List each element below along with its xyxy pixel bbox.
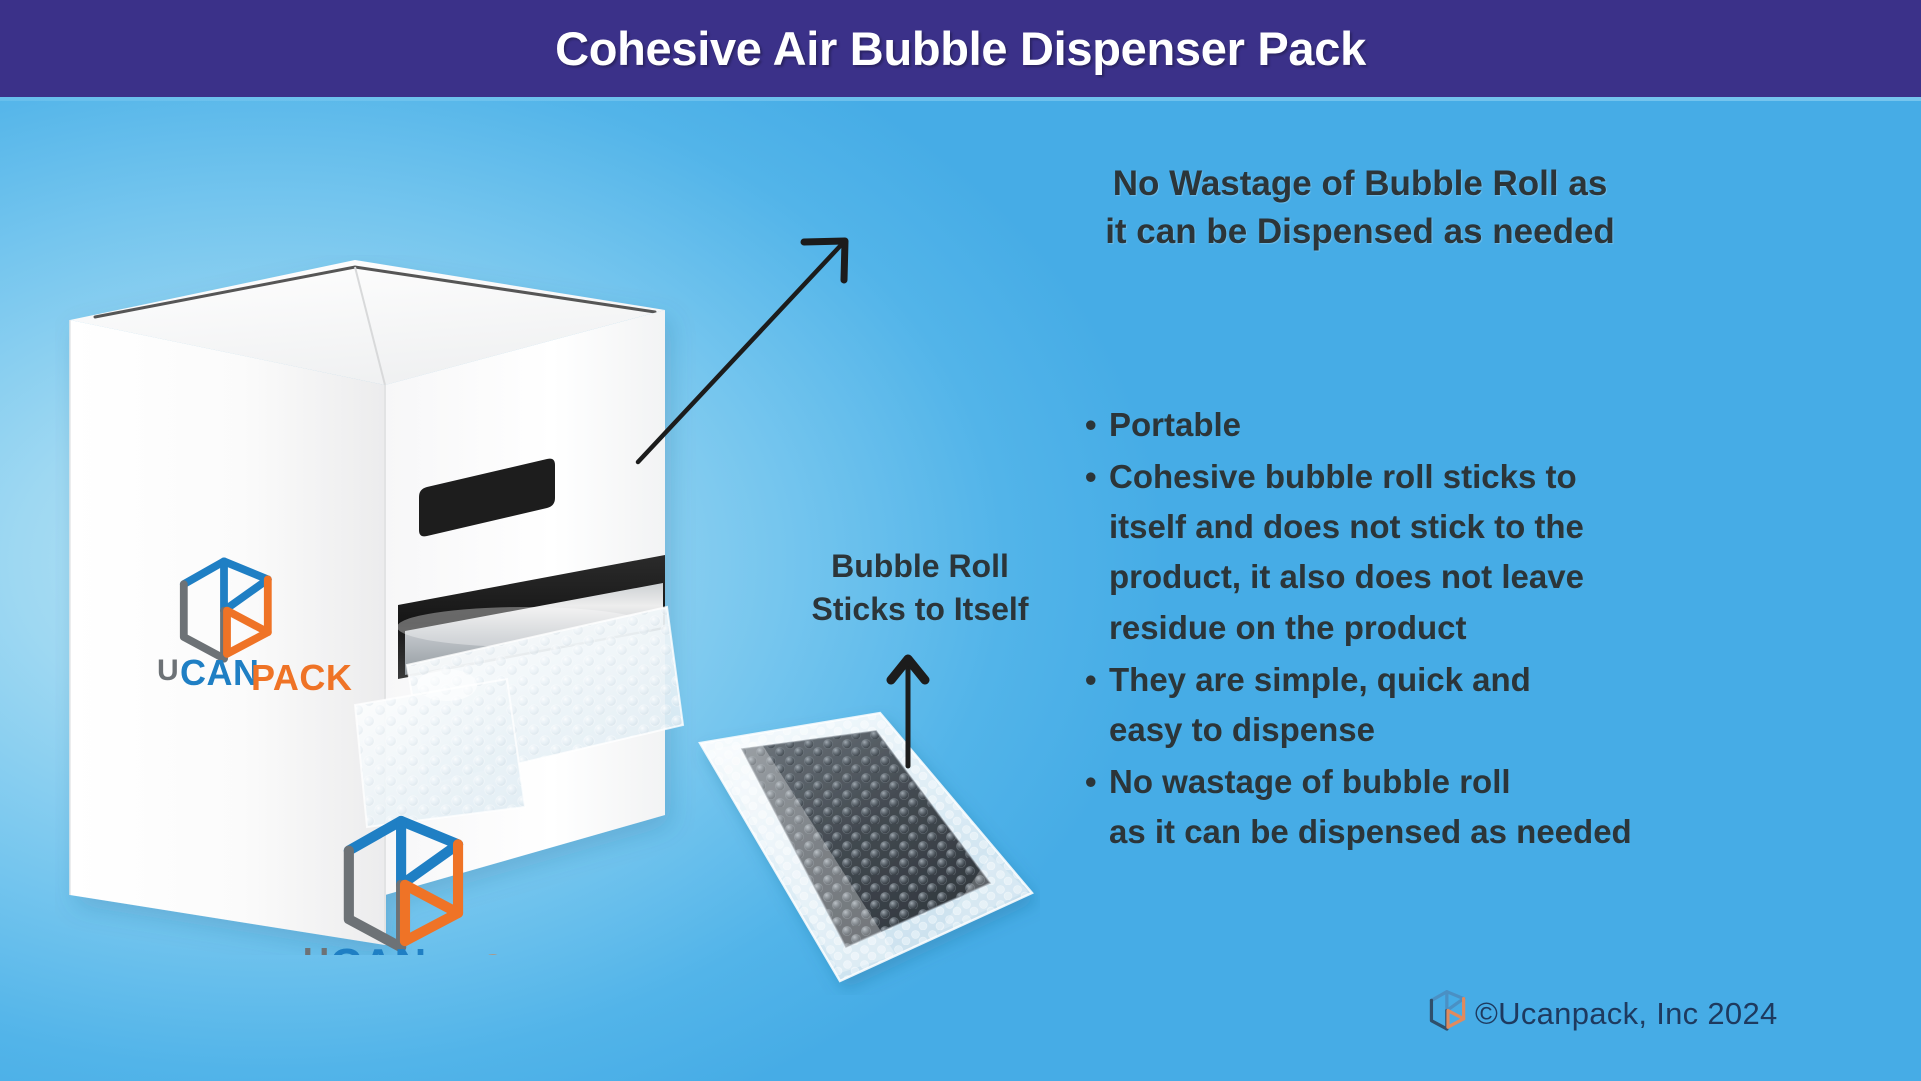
feature-line: Portable — [1109, 400, 1885, 450]
brand-wordmark-upper: U CAN PACK — [157, 652, 352, 698]
svg-text:U: U — [157, 654, 179, 687]
feature-line: product, it also does not leave — [1109, 552, 1885, 602]
feature-text: No wastage of bubble rollas it can be di… — [1109, 757, 1885, 857]
svg-text:PACK: PACK — [417, 946, 540, 955]
page-title: Cohesive Air Bubble Dispenser Pack — [555, 21, 1366, 76]
feature-line: as it can be dispensed as needed — [1109, 807, 1885, 857]
feature-bullet-icon: • — [1085, 757, 1109, 807]
header-divider — [0, 97, 1921, 101]
feature-line: No wastage of bubble roll — [1109, 757, 1885, 807]
dispenser-box-image: U CAN PACK U CAN PACK — [55, 255, 715, 955]
feature-bullet-icon: • — [1085, 400, 1109, 450]
feature-line: itself and does not stick to the — [1109, 502, 1885, 552]
feature-item: •Cohesive bubble roll sticks toitself an… — [1085, 452, 1885, 653]
feature-line: residue on the product — [1109, 603, 1885, 653]
infographic-page: Cohesive Air Bubble Dispenser Pack — [0, 0, 1921, 1081]
feature-line: easy to dispense — [1109, 705, 1885, 755]
callout-sticks-line1: Bubble Roll — [755, 545, 1085, 588]
feature-bullet-icon: • — [1085, 655, 1109, 705]
feature-bullet-icon: • — [1085, 452, 1109, 502]
vertical-arrow-up — [885, 650, 931, 775]
callout-no-wastage: No Wastage of Bubble Roll as it can be D… — [930, 160, 1790, 257]
svg-text:CAN: CAN — [180, 652, 260, 693]
feature-item: •They are simple, quick andeasy to dispe… — [1085, 655, 1885, 755]
feature-item: •No wastage of bubble rollas it can be d… — [1085, 757, 1885, 857]
svg-text:U: U — [303, 940, 330, 955]
diagonal-arrow-up-right — [630, 230, 860, 475]
ucanpack-logo-icon — [1425, 985, 1471, 1042]
header-banner: Cohesive Air Bubble Dispenser Pack — [0, 0, 1921, 97]
feature-text: They are simple, quick andeasy to dispen… — [1109, 655, 1885, 755]
svg-text:PACK: PACK — [251, 657, 352, 698]
copyright-text: ©Ucanpack, Inc 2024 — [1475, 996, 1778, 1032]
feature-list: •Portable•Cohesive bubble roll sticks to… — [1085, 400, 1885, 859]
callout-sticks-to-itself: Bubble Roll Sticks to Itself — [755, 545, 1085, 631]
svg-text:CAN: CAN — [330, 940, 427, 955]
callout-no-wastage-line2: it can be Dispensed as needed — [930, 208, 1790, 256]
callout-no-wastage-line1: No Wastage of Bubble Roll as — [1113, 164, 1608, 203]
bubble-pouch-image — [690, 705, 1040, 995]
feature-item: •Portable — [1085, 400, 1885, 450]
feature-line: Cohesive bubble roll sticks to — [1109, 452, 1885, 502]
brand-wordmark-lower: U CAN PACK — [303, 940, 540, 955]
feature-line: They are simple, quick and — [1109, 655, 1885, 705]
feature-text: Cohesive bubble roll sticks toitself and… — [1109, 452, 1885, 653]
callout-sticks-line2: Sticks to Itself — [755, 588, 1085, 631]
feature-text: Portable — [1109, 400, 1885, 450]
copyright-footer: ©Ucanpack, Inc 2024 — [1425, 985, 1778, 1042]
